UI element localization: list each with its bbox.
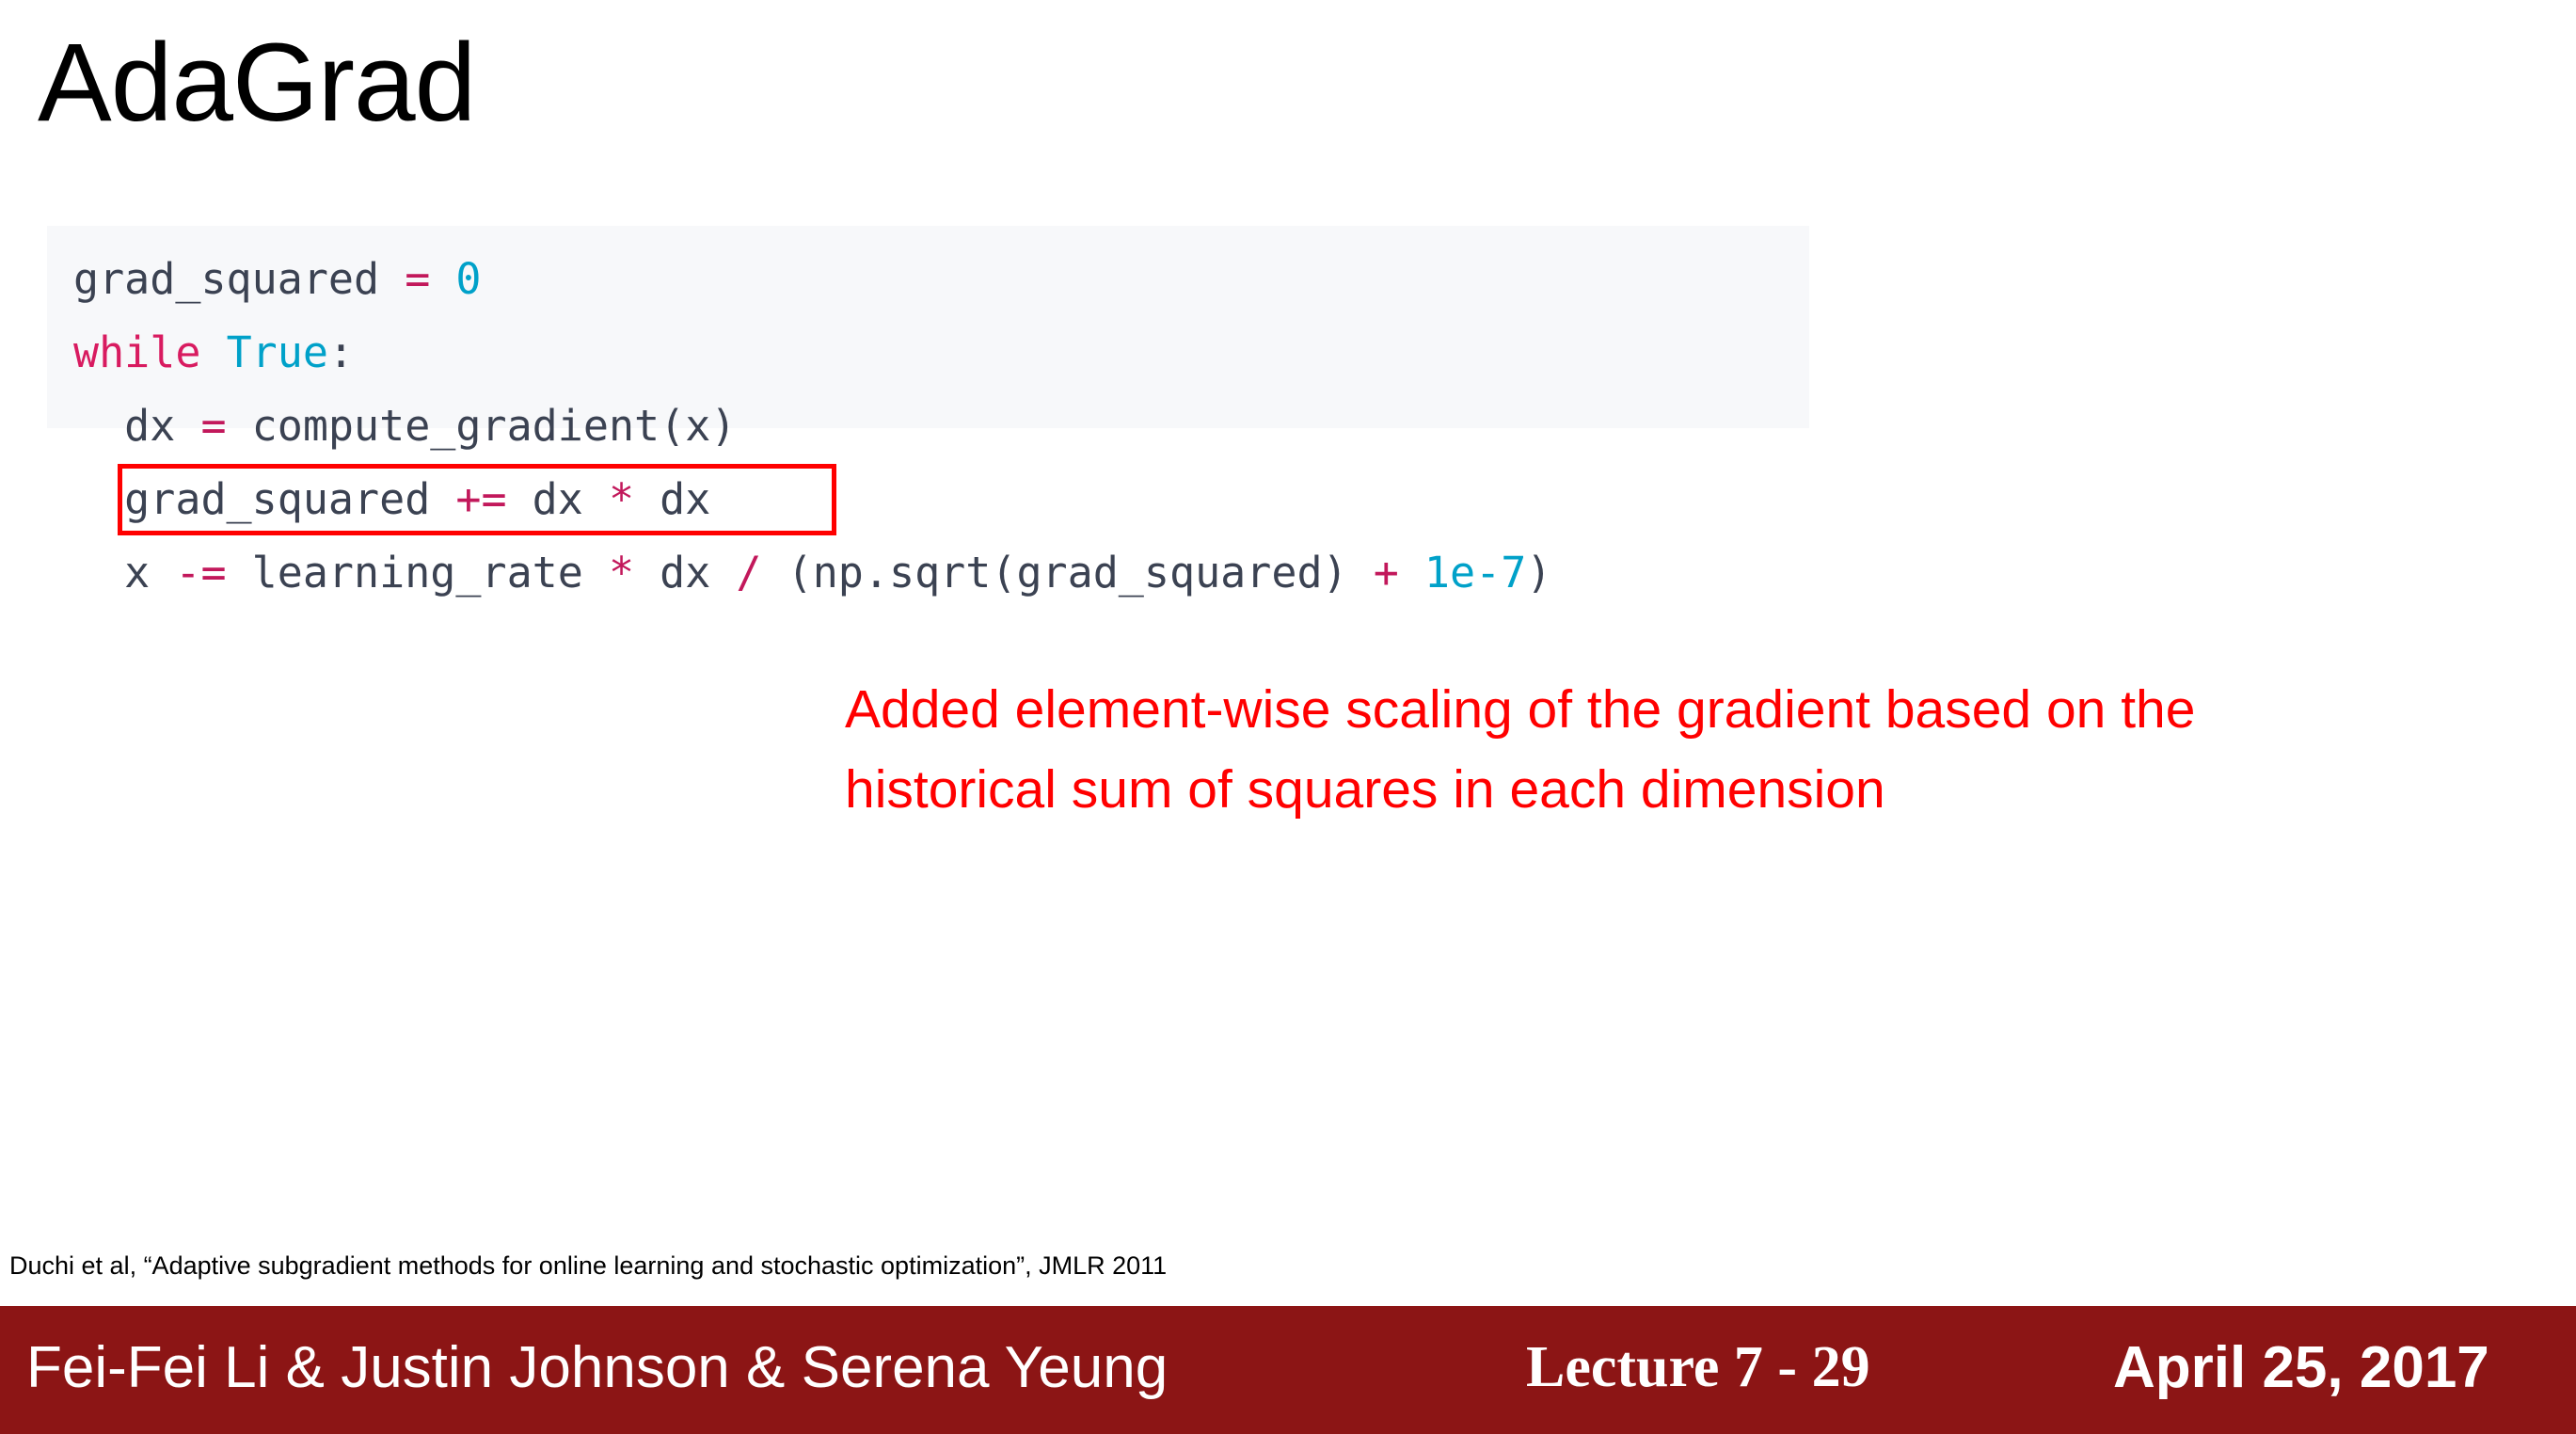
code-token: grad_squared	[73, 254, 379, 304]
code-token: x	[73, 548, 150, 597]
code-token: dx	[73, 401, 175, 451]
code-token: while	[73, 327, 200, 377]
code-token	[175, 401, 200, 451]
code-token: =	[405, 254, 430, 304]
annotation-line-2: historical sum of squares in each dimens…	[845, 750, 2529, 830]
footer-authors: Fei-Fei Li & Justin Johnson & Serena Yeu…	[26, 1334, 1168, 1401]
code-token	[379, 254, 405, 304]
code-token	[430, 254, 455, 304]
code-block: grad_squared = 0 while True: dx = comput…	[47, 226, 1809, 428]
citation-footnote: Duchi et al, “Adaptive subgradient metho…	[9, 1251, 1167, 1281]
code-token: /	[736, 548, 761, 597]
code-token: (np.sqrt(grad_squared)	[762, 548, 1374, 597]
code-token: True	[227, 327, 328, 377]
code-token: compute_gradient(x)	[227, 401, 737, 451]
code-token: 1e-7	[1424, 548, 1526, 597]
code-token: dx	[634, 548, 736, 597]
code-line-3-highlighted: grad_squared += dx * dx	[47, 463, 1809, 536]
code-token: +	[1374, 548, 1399, 597]
annotation-line-1: Added element-wise scaling of the gradie…	[845, 670, 2529, 750]
code-token	[150, 548, 175, 597]
code-token: *	[609, 474, 634, 524]
code-token: +=	[455, 474, 506, 524]
code-token: :	[328, 327, 354, 377]
code-token: -=	[175, 548, 226, 597]
code-token	[200, 327, 226, 377]
page-title: AdaGrad	[38, 23, 475, 145]
code-token: =	[200, 401, 226, 451]
code-line-4: x -= learning_rate * dx / (np.sqrt(grad_…	[47, 536, 1809, 610]
footer-lecture-number: Lecture 7 - 29	[1526, 1334, 1870, 1401]
code-token: learning_rate	[227, 548, 609, 597]
footer-date: April 25, 2017	[2113, 1334, 2489, 1401]
code-token: dx	[507, 474, 609, 524]
footer-bar: Fei-Fei Li & Justin Johnson & Serena Yeu…	[0, 1306, 2576, 1434]
code-token: dx	[634, 474, 710, 524]
code-line-0: grad_squared = 0	[47, 243, 1809, 316]
code-token	[1399, 548, 1424, 597]
code-token: *	[609, 548, 634, 597]
code-token: grad_squared	[73, 474, 430, 524]
code-token	[430, 474, 455, 524]
annotation-text: Added element-wise scaling of the gradie…	[845, 670, 2529, 830]
code-line-2: dx = compute_gradient(x)	[47, 390, 1809, 463]
code-token: 0	[455, 254, 481, 304]
code-token: )	[1526, 548, 1551, 597]
code-line-1: while True:	[47, 316, 1809, 390]
